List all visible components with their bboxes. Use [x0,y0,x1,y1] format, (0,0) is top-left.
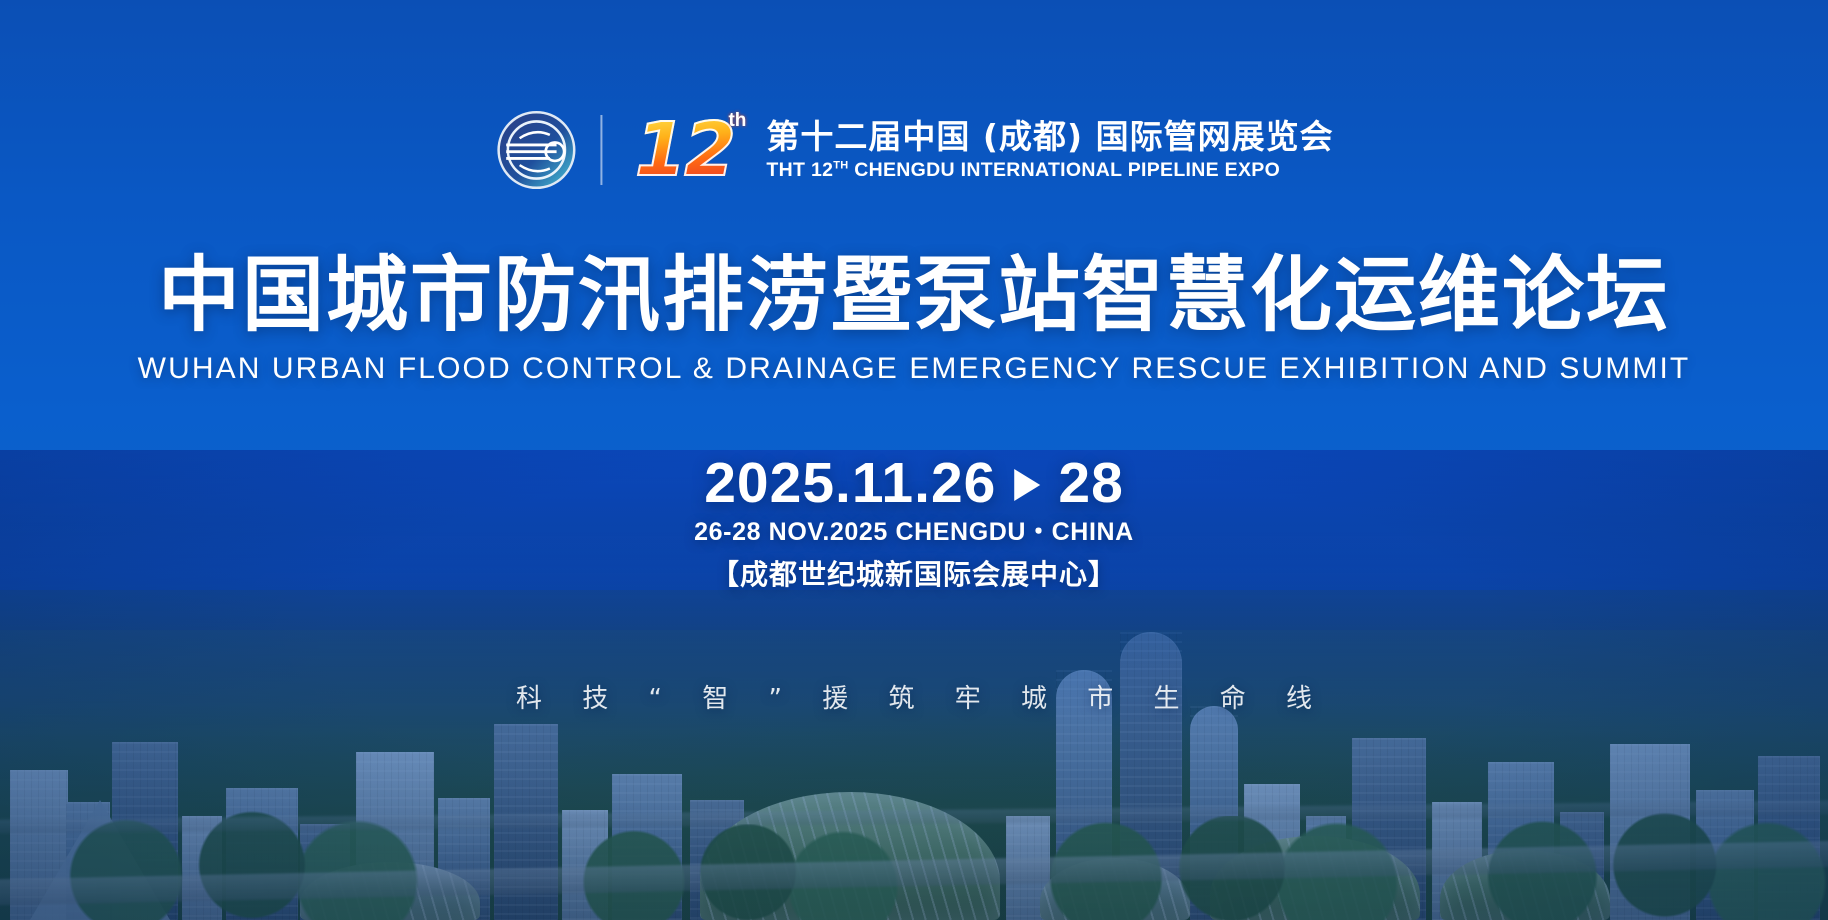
organizer-name-en-rest: CHENGDU INTERNATIONAL PIPELINE EXPO [849,159,1281,181]
organizer-name-en-prefix: THT 12 [766,159,833,181]
event-date: 2025.11.26 28 [704,450,1124,516]
edition-number-badge: 12 th [624,108,744,192]
right-triangle-arrow-icon [1014,469,1040,501]
event-date-start: 2025.11.26 [704,450,996,516]
event-venue: 【成都世纪城新国际会展中心】 [711,553,1117,593]
organizer-lockup: 12 th 第十二届中国 (成都) 国际管网展览会 THT 12TH CHENG… [494,108,1333,192]
page-title-cn: 中国城市防汛排涝暨泵站智慧化运维论坛 [158,255,1670,337]
lockup-divider [600,115,602,185]
edition-number: 12 [635,113,734,187]
organizer-name-en: THT 12TH CHENGDU INTERNATIONAL PIPELINE … [766,159,1333,182]
event-banner: 12 th 第十二届中国 (成都) 国际管网展览会 THT 12TH CHENG… [0,0,1828,920]
event-date-end: 28 [1058,450,1123,516]
banner-tagline: 科 技 “ 智 ” 援 筑 牢 城 市 生 命 线 [500,678,1328,715]
organizer-name-cn: 第十二届中国 (成都) 国际管网展览会 [766,118,1333,156]
event-date-en: 26-28 NOV.2025 CHENGDU・CHINA [694,512,1134,548]
organizer-name-en-ordinal: TH [833,160,848,172]
organizer-text-block: 第十二届中国 (成都) 国际管网展览会 THT 12TH CHENGDU INT… [766,118,1333,183]
pipeline-ring-emblem-icon [494,108,578,192]
banner-content: 12 th 第十二届中国 (成都) 国际管网展览会 THT 12TH CHENG… [0,0,1828,920]
edition-suffix: th [728,110,746,132]
page-title-en: WUHAN URBAN FLOOD CONTROL & DRAINAGE EME… [138,352,1691,386]
